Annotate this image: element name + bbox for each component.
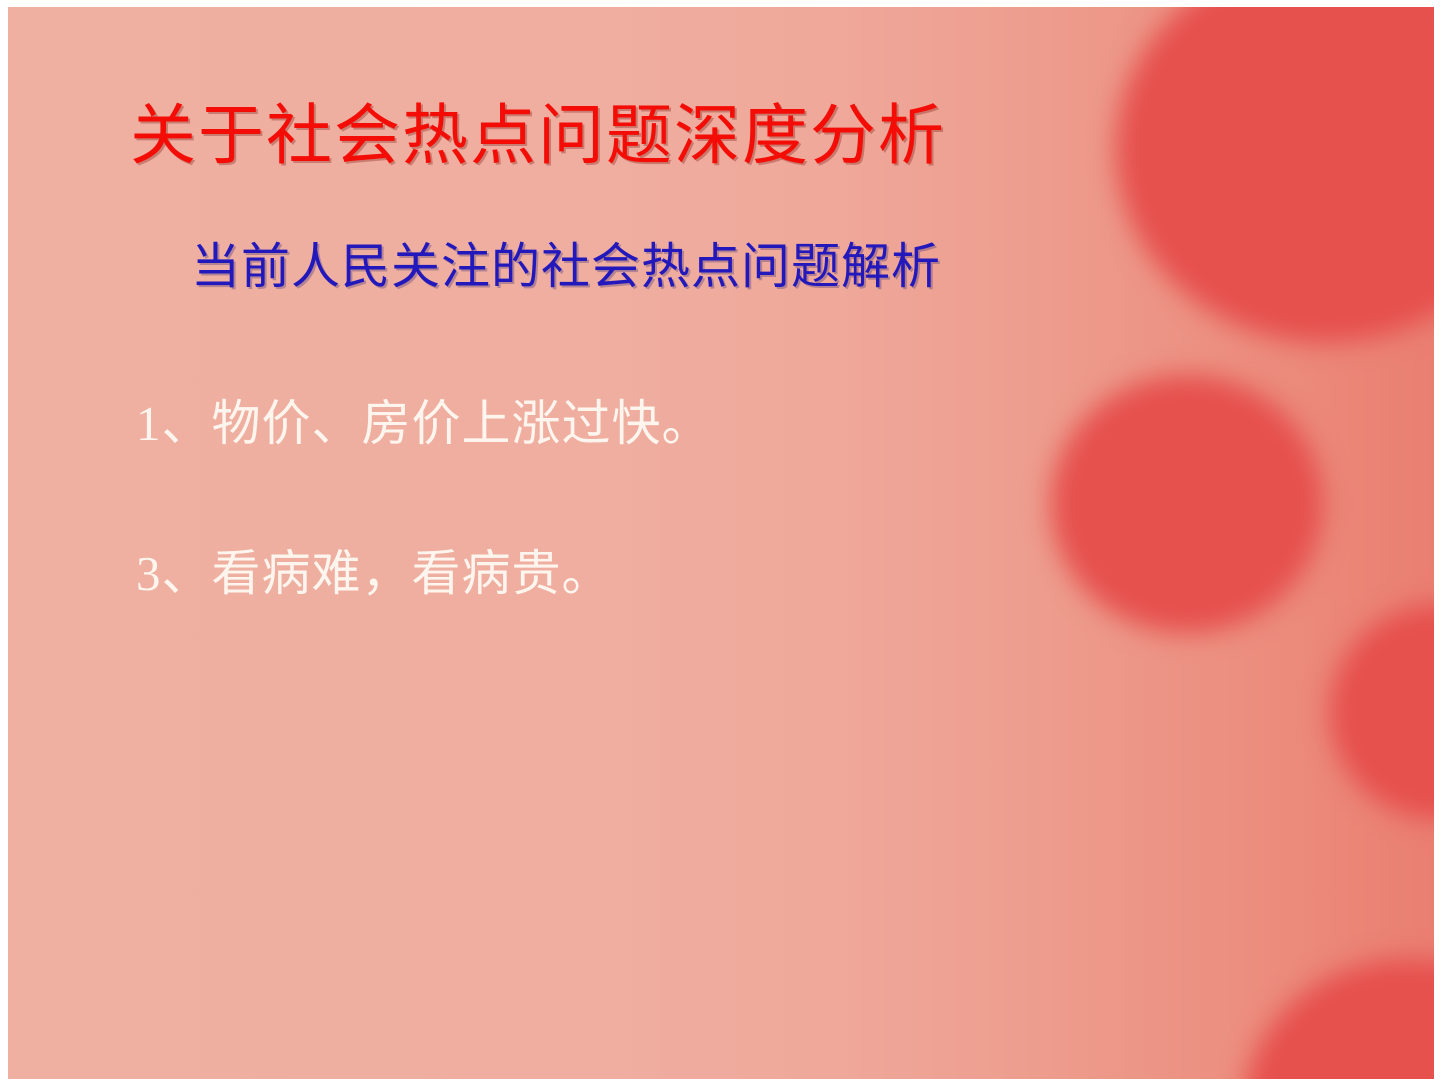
presentation-slide: 关于社会热点问题深度分析 当前人民关注的社会热点问题解析 1、物价、房价上涨过快…: [8, 7, 1434, 1079]
slide-bullet-list: 1、物价、房价上涨过快。 3、看病难，看病贵。: [136, 393, 1136, 605]
slide-title: 关于社会热点问题深度分析: [130, 95, 1130, 179]
slide-subtitle: 当前人民关注的社会热点问题解析: [191, 235, 1241, 299]
list-item: 1、物价、房价上涨过快。: [136, 393, 1136, 455]
list-item: 3、看病难，看病贵。: [136, 543, 1136, 605]
slide-text-layer: 关于社会热点问题深度分析 当前人民关注的社会热点问题解析 1、物价、房价上涨过快…: [8, 7, 1434, 1079]
